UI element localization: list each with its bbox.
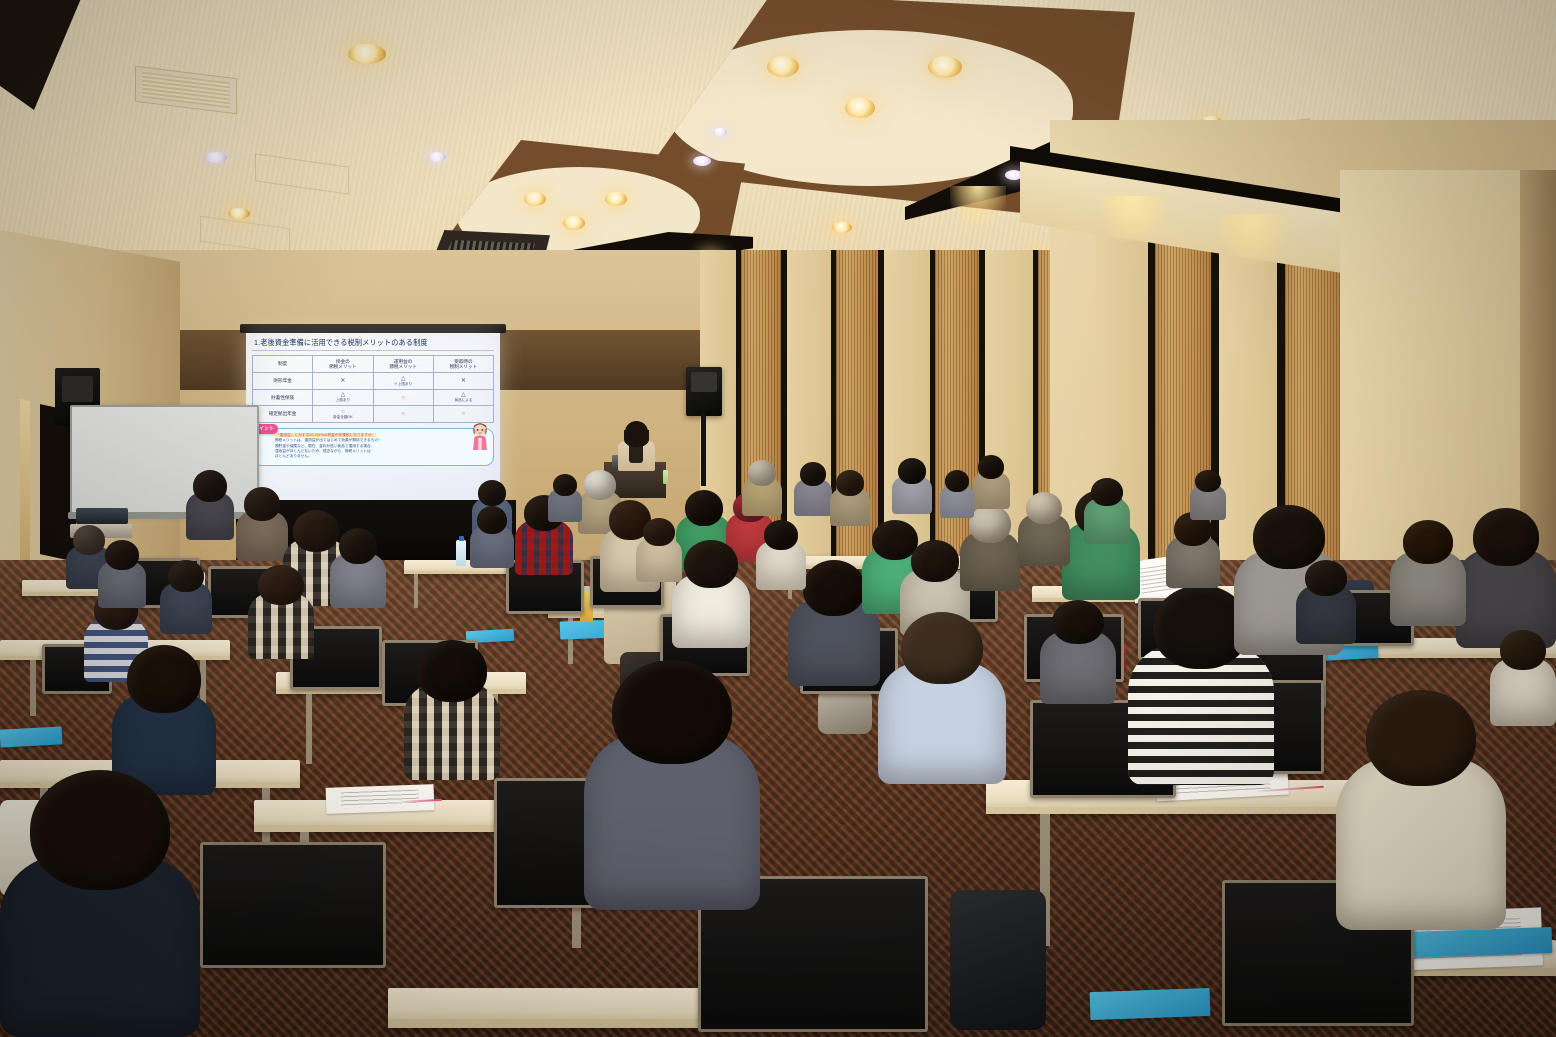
wall-wash-spot-3 — [950, 186, 1006, 226]
attendee-head — [945, 470, 969, 492]
slide-table: 制度 掛金の 節税メリット 運用益の 節税メリット 受取時の 税制メリット — [252, 355, 494, 423]
handout-paper — [326, 784, 435, 814]
slide-point-line-4: ほとんどありません。 — [275, 454, 488, 459]
attendee-r1-mid1 — [330, 528, 386, 608]
slide-cell-2-0: ○ 掛金全額OK — [313, 406, 373, 422]
ceiling-downlight-small-1 — [524, 192, 546, 206]
attendee-r1-c — [236, 487, 288, 561]
table-leg — [30, 660, 36, 716]
grey-bag — [818, 690, 872, 734]
attendee-head — [969, 505, 1011, 543]
attendee-back-7 — [1084, 478, 1130, 544]
attendee-head — [748, 460, 776, 486]
seminar-room-photo: 1.老後資金準備に活用できる税制メリットのある制度 制度 掛金の 節税メリット … — [0, 0, 1556, 1037]
attendee-head — [244, 487, 280, 521]
attendee-head — [978, 455, 1004, 479]
attendee-head — [553, 474, 577, 496]
ceiling-downlight-large-3 — [845, 98, 875, 118]
attendee-mid-back-a — [470, 506, 514, 568]
attendee-head — [901, 612, 983, 684]
right-stand-speaker — [686, 367, 722, 416]
attendee-teal-right — [1390, 520, 1466, 626]
ceiling-downlight-e — [428, 152, 446, 162]
attendee-head — [684, 540, 738, 588]
attendee-head — [339, 528, 377, 564]
slide-th-3: 受取時の 税制メリット — [433, 356, 493, 373]
wall-wash-spot-2 — [1218, 214, 1288, 264]
projection-screen: 1.老後資金準備に活用できる税制メリットのある制度 制度 掛金の 節税メリット … — [246, 324, 500, 514]
attendee-r3-main — [584, 660, 760, 910]
slide-row-label-0: 財形年金 — [253, 373, 313, 389]
attendee-r0-left — [160, 560, 212, 634]
slide-th-2: 運用益の 節税メリット — [373, 356, 433, 373]
slide-content: 1.老後資金準備に活用できる税制メリットのある制度 制度 掛金の 節税メリット … — [252, 338, 494, 504]
attendee-back-4 — [892, 458, 932, 514]
attendee-r1-mid2 — [248, 565, 314, 659]
attendee-head — [258, 565, 304, 605]
slide-row-label-2: 確定拠出年金 — [253, 406, 313, 422]
attendee-head — [127, 645, 201, 713]
attendee-back-5 — [972, 455, 1010, 509]
attendee-head — [800, 462, 826, 486]
attendee-beige-cardigan — [1336, 690, 1506, 930]
ceiling-downlight-c — [228, 208, 250, 219]
attendee-tiny-6 — [1490, 630, 1556, 726]
cyan-folder — [1090, 988, 1211, 1020]
attendee-lightblue-shirt — [878, 612, 1006, 784]
water-bottle — [456, 540, 466, 566]
attendee-far-right — [1456, 508, 1556, 648]
attendee-head — [1500, 630, 1546, 670]
attendee-puffer — [672, 540, 750, 648]
attendee-head — [168, 560, 204, 592]
attendee-tiny-1 — [1296, 560, 1356, 644]
slide-table-row-2: 確定拠出年金 ○ 掛金全額OK ○ ○ — [253, 406, 494, 422]
attendee-tiny-3 — [940, 470, 974, 518]
ceiling-downlight-j — [832, 222, 852, 233]
attendee-head — [764, 520, 798, 550]
slide-th-1: 掛金の 節税メリット — [313, 356, 373, 373]
slide-cell-0-1: △ ※上限あり — [373, 373, 433, 389]
attendee-head — [803, 560, 865, 616]
dark-backpack — [950, 890, 1046, 1030]
slide-table-row-1: 貯蓄性保険 △ 上限あり ○ △ 商品による — [253, 389, 494, 405]
attendee-head — [1195, 470, 1221, 492]
slide-point-box: ポイント 「運用益」に対する20.315%の税金が非課税となりますが、 節税メリ… — [252, 428, 494, 466]
attendee-head — [30, 770, 170, 890]
attendee-mid-back-b — [636, 518, 682, 582]
attendee-head — [478, 480, 506, 506]
attendee-r0-left2 — [98, 540, 146, 608]
slide-cell-1-0: △ 上限あり — [313, 389, 373, 405]
ceiling-downlight-small-3 — [563, 216, 585, 230]
attendee-head — [1366, 690, 1476, 786]
speaker-stand-pole — [701, 414, 706, 486]
slide-th-0: 制度 — [253, 356, 313, 373]
slide-table-header-row: 制度 掛金の 節税メリット 運用益の 節税メリット 受取時の 税制メリット — [253, 356, 494, 373]
attendee-head — [643, 518, 675, 546]
table-leg — [414, 574, 418, 608]
attendee-back-3 — [830, 470, 870, 526]
attendee-head — [685, 490, 723, 526]
attendee-head — [1473, 508, 1539, 566]
slide-mascot-icon — [469, 422, 491, 452]
attendee-head — [836, 470, 864, 496]
slide-title-rule — [252, 350, 494, 351]
slide-cell-0-2: ✕ — [433, 373, 493, 389]
attendee-head — [1091, 478, 1123, 506]
attendee-head — [584, 470, 616, 500]
attendee-head — [477, 506, 507, 534]
ceiling-downlight-large-1 — [767, 56, 799, 77]
projection-screen-roller — [240, 324, 506, 333]
slide-cell-1-1: ○ — [373, 389, 433, 405]
attendee-tiny-2 — [1040, 600, 1116, 704]
attendee-head — [911, 540, 959, 582]
attendee-head — [193, 470, 227, 502]
attendee-tiny-5 — [548, 474, 582, 522]
attendee-r2-b — [404, 640, 500, 780]
attendee-head — [417, 640, 487, 702]
attendee-r1-b — [186, 470, 234, 540]
ceiling-downlight-g — [713, 128, 727, 136]
wall-wash-spot-1 — [1100, 196, 1166, 242]
cyan-folder — [0, 726, 62, 747]
av-equipment-box — [76, 508, 128, 524]
ceiling-downlight-f — [693, 156, 711, 166]
ceiling-downlight-a — [348, 44, 386, 64]
attendee-head — [1052, 600, 1104, 644]
ceiling-downlight-large-2 — [928, 56, 962, 78]
podium-bottle — [663, 470, 668, 484]
attendee-head — [1026, 492, 1062, 524]
slide-table-row-0: 財形年金 ✕ △ ※上限あり ✕ — [253, 373, 494, 389]
attendee-front-left — [0, 770, 200, 1037]
presenter — [614, 424, 658, 470]
attendee-back-8 — [1166, 512, 1220, 588]
attendee-head — [1305, 560, 1347, 596]
table-row-5-left — [388, 988, 718, 1028]
attendee-head — [612, 660, 732, 764]
attendee-back-1 — [742, 460, 782, 516]
slide-cell-2-2: ○ — [433, 406, 493, 422]
ceiling-downlight-b — [205, 152, 227, 163]
slide-cell-1-2: △ 商品による — [433, 389, 493, 405]
attendee-head — [105, 540, 139, 570]
chair — [200, 842, 386, 968]
attendee-head — [1403, 520, 1453, 564]
slide-title: 1.老後資金準備に活用できる税制メリットのある制度 — [252, 338, 494, 348]
attendee-tiny-4 — [1190, 470, 1226, 520]
attendee-back-6 — [1018, 492, 1070, 566]
presenter-hair — [625, 421, 648, 443]
ceiling-downlight-small-2 — [605, 192, 627, 206]
slide-cell-2-1: ○ — [373, 406, 433, 422]
slide-row-label-1: 貯蓄性保険 — [253, 389, 313, 405]
projection-screen-surface: 1.老後資金準備に活用できる税制メリットのある制度 制度 掛金の 節税メリット … — [246, 333, 500, 509]
attendee-back-2 — [794, 462, 832, 516]
table-leg — [306, 694, 312, 764]
attendee-head — [898, 458, 926, 484]
attendee-mid-back-c — [756, 520, 806, 590]
slide-cell-0-0: ✕ — [313, 373, 373, 389]
